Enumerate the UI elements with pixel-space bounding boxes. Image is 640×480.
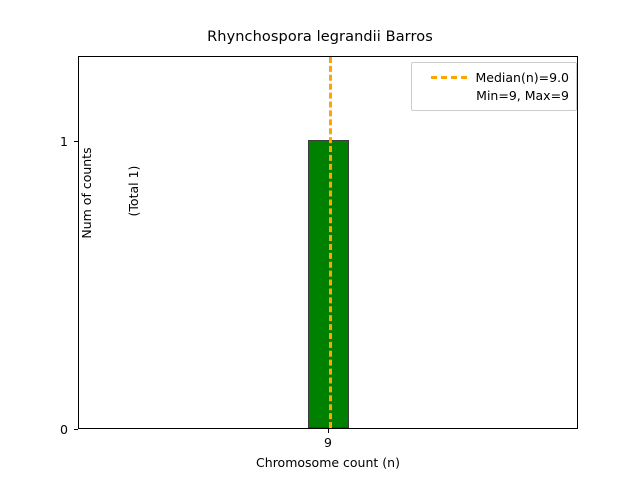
median-line [329, 57, 332, 428]
plot-area [78, 56, 578, 429]
xtick-mark-9 [328, 429, 329, 433]
dashed-line-icon [431, 76, 467, 79]
ytick-mark-1 [74, 141, 78, 142]
xtick-label-9: 9 [324, 435, 332, 450]
chart-figure: Rhynchospora legrandii Barros 1 0 9 Chro… [0, 0, 640, 480]
legend: Median(n)=9.0 Min=9, Max=9 [411, 62, 577, 111]
legend-row-minmax: Min=9, Max=9 [419, 86, 569, 104]
legend-label-median: Median(n)=9.0 [476, 70, 570, 85]
legend-label-minmax: Min=9, Max=9 [476, 88, 569, 103]
plot-inner [79, 57, 577, 428]
ytick-mark-0 [74, 429, 78, 430]
legend-row-median: Median(n)=9.0 [419, 68, 569, 86]
ytick-label-0: 0 [60, 422, 68, 437]
ytick-label-1: 1 [60, 134, 68, 149]
chart-title: Rhynchospora legrandii Barros [0, 29, 640, 45]
x-axis-label: Chromosome count (n) [78, 455, 578, 470]
